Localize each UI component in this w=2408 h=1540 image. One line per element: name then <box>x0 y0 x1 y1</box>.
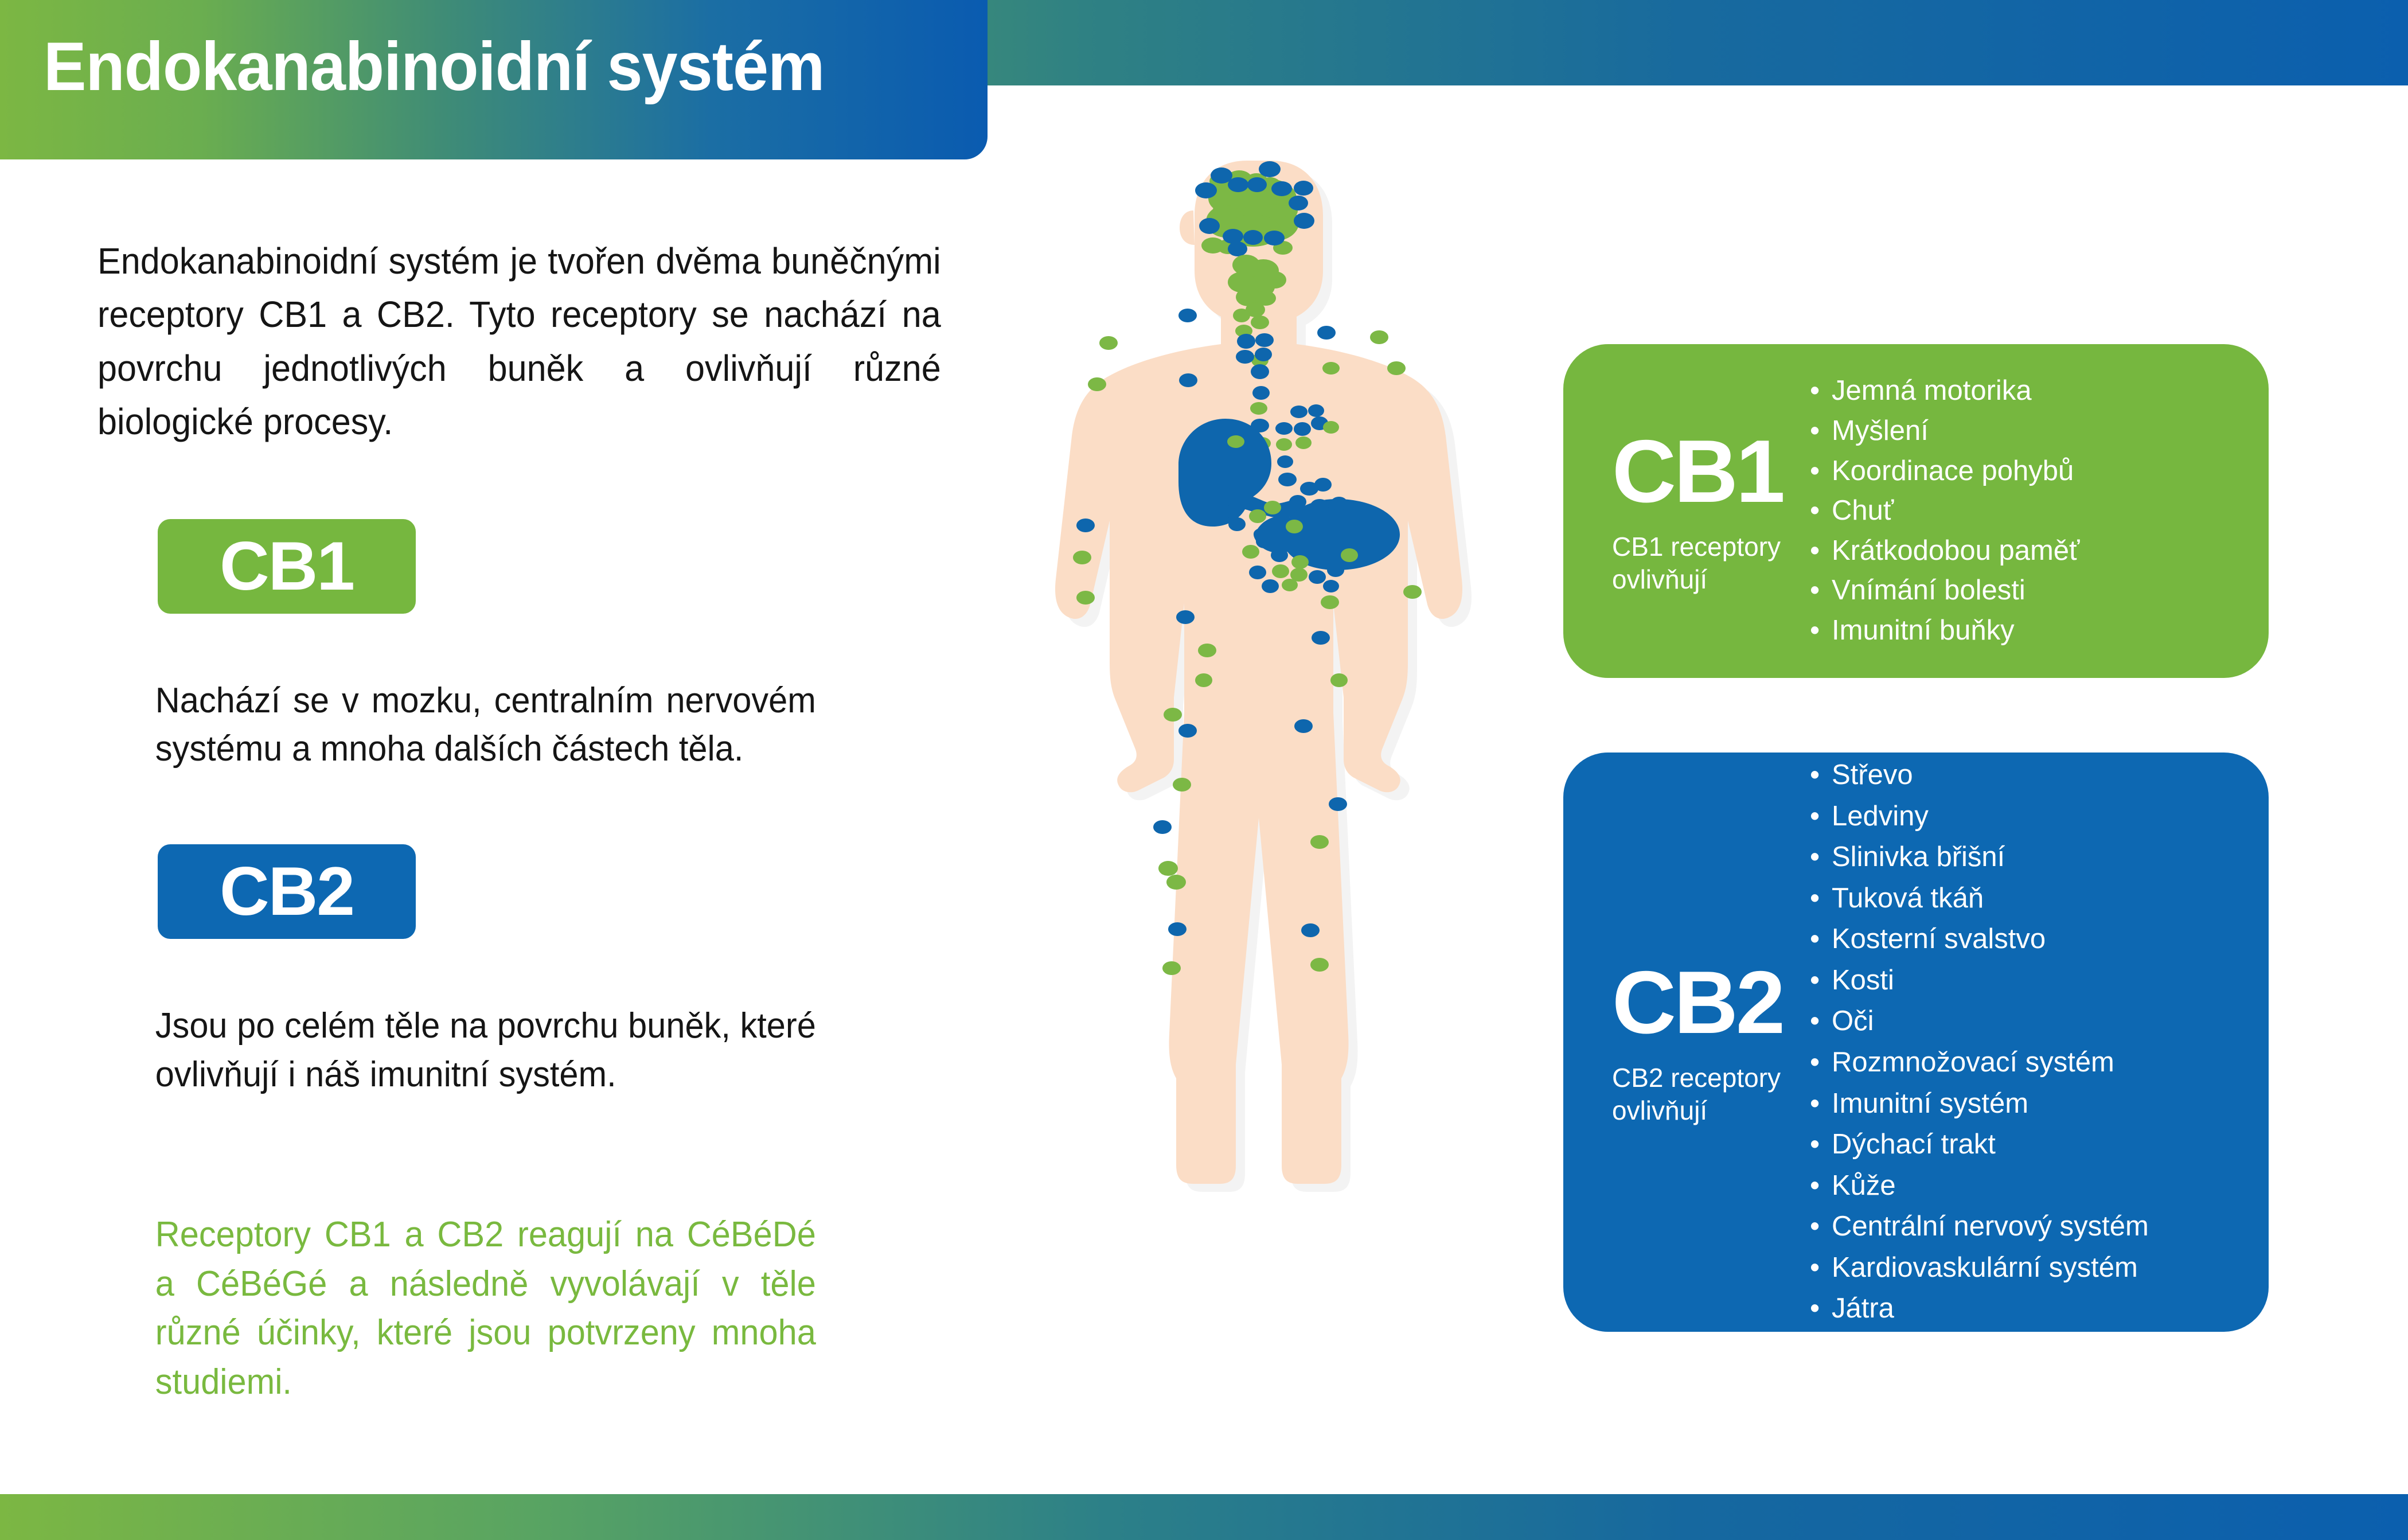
panel-cb1-list: Jemná motorika Myšlení Koordinace pohybů… <box>1810 371 2269 650</box>
list-item: Imunitní systém <box>1810 1083 2269 1125</box>
list-item: Kosti <box>1810 960 2269 1001</box>
list-item: Oči <box>1810 1001 2269 1042</box>
list-item: Krátkodobou paměť <box>1810 531 2269 571</box>
list-item: Rozmnožovací systém <box>1810 1042 2269 1083</box>
list-item: Ledviny <box>1810 796 2269 837</box>
section-cb2: CB2 <box>97 844 981 939</box>
panel-cb1: CB1 CB1 receptory ovlivňují Jemná motori… <box>1563 344 2269 678</box>
list-item: Slinivka břišní <box>1810 837 2269 878</box>
list-item: Játra <box>1810 1288 2269 1330</box>
panel-cb2-identity: CB2 CB2 receptory ovlivňují <box>1563 958 1810 1126</box>
list-item: Vnímání bolesti <box>1810 571 2269 611</box>
panel-cb2-subtitle: CB2 receptory ovlivňují <box>1612 1062 1810 1126</box>
list-item: Centrální nervový systém <box>1810 1206 2269 1247</box>
intro-paragraph: Endokanabinoidní systém je tvořen dvěma … <box>97 235 941 449</box>
list-item: Dýchací trakt <box>1810 1124 2269 1165</box>
list-item: Kosterní svalstvo <box>1810 919 2269 960</box>
cb1-description: Nachází se v mozku, centralním nervovém … <box>97 677 816 774</box>
list-item: Imunitní buňky <box>1810 611 2269 651</box>
list-item: Koordinace pohybů <box>1810 451 2269 492</box>
footer-note-paragraph: Receptory CB1 a CB2 reagují na CéBéDé a … <box>97 1210 816 1406</box>
list-item: Myšlení <box>1810 411 2269 451</box>
panel-cb1-code: CB1 <box>1612 427 1810 516</box>
panel-cb1-subtitle: CB1 receptory ovlivňují <box>1612 531 1810 595</box>
body-svg <box>1001 143 1494 1520</box>
cb1-badge: CB1 <box>158 519 416 614</box>
human-body-receptor-diagram <box>1001 143 1494 1520</box>
panel-cb1-identity: CB1 CB1 receptory ovlivňují <box>1563 427 1810 595</box>
page-title: Endokanabinoidní systém <box>44 32 824 101</box>
list-item: Kardiovaskulární systém <box>1810 1247 2269 1289</box>
footer-gradient-strip <box>0 1494 2408 1540</box>
list-item: Střevo <box>1810 755 2269 796</box>
panel-cb2: CB2 CB2 receptory ovlivňují Střevo Ledvi… <box>1563 753 2269 1332</box>
list-item: Tuková tkáň <box>1810 878 2269 919</box>
list-item: Chuť <box>1810 491 2269 531</box>
header-title-block: Endokanabinoidní systém <box>0 0 988 159</box>
left-content-column: Endokanabinoidní systém je tvořen dvěma … <box>97 198 981 1442</box>
list-item: Kůže <box>1810 1165 2269 1207</box>
panel-cb2-code: CB2 <box>1612 958 1810 1047</box>
cb2-badge: CB2 <box>158 844 416 939</box>
list-item: Jemná motorika <box>1810 371 2269 411</box>
panel-cb2-list: Střevo Ledviny Slinivka břišní Tuková tk… <box>1810 755 2269 1329</box>
cb2-description: Jsou po celém těle na povrchu buněk, kte… <box>97 1002 816 1099</box>
section-cb1: CB1 <box>97 519 981 614</box>
